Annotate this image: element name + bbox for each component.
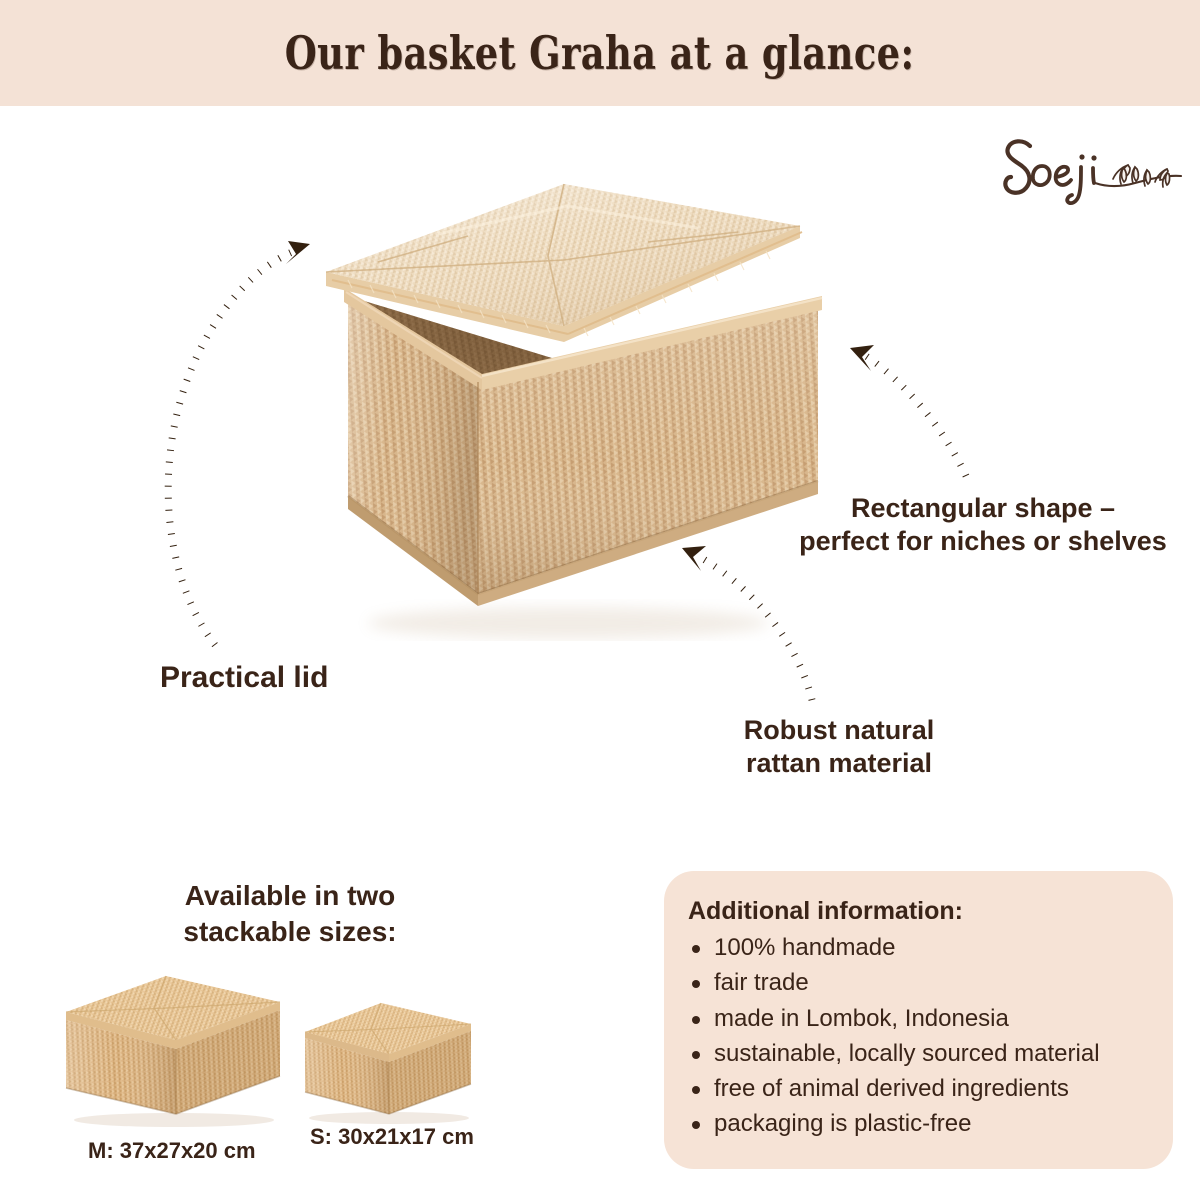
list-item: 100% handmade <box>688 930 1147 965</box>
additional-information-card: Additional information: 100% handmade fa… <box>664 871 1173 1169</box>
list-item: free of animal derived ingredients <box>688 1071 1147 1106</box>
callout-line: perfect for niches or shelves <box>783 525 1183 558</box>
product-photo-size-s <box>297 996 477 1124</box>
callout-label-rectangular-shape: Rectangular shape – perfect for niches o… <box>783 492 1183 558</box>
logo-script-text <box>1005 141 1181 203</box>
list-item: made in Lombok, Indonesia <box>688 1001 1147 1036</box>
sizes-heading-line: Available in two <box>140 878 440 914</box>
additional-information-list: 100% handmade fair trade made in Lombok,… <box>688 930 1147 1142</box>
callout-line: rattan material <box>728 747 950 780</box>
sizes-heading-line: stackable sizes: <box>140 914 440 950</box>
page-title: Our basket Graha at a glance: <box>285 26 915 80</box>
dotted-arrow-icon-rectangular-shape <box>850 345 966 476</box>
header-band: Our basket Graha at a glance: <box>0 0 1200 106</box>
dotted-arrow-icon-practical-lid <box>168 241 310 645</box>
list-item: fair trade <box>688 965 1147 1000</box>
basket-shadow <box>368 607 768 639</box>
callout-label-rattan-material: Robust natural rattan material <box>728 714 950 780</box>
sizes-heading: Available in two stackable sizes: <box>140 878 440 950</box>
callout-line: Robust natural <box>728 714 950 747</box>
callout-line: Practical lid <box>160 660 328 697</box>
additional-information-title: Additional information: <box>688 897 1147 926</box>
product-photo-size-m <box>58 968 288 1128</box>
callout-label-practical-lid: Practical lid <box>160 660 328 697</box>
callout-line: Rectangular shape – <box>783 492 1183 525</box>
brand-logo <box>995 130 1190 208</box>
size-label-s: S: 30x21x17 cm <box>310 1124 474 1150</box>
list-item: sustainable, locally sourced material <box>688 1036 1147 1071</box>
list-item: packaging is plastic-free <box>688 1106 1147 1141</box>
size-label-m: M: 37x27x20 cm <box>88 1138 256 1164</box>
leaf-branch-icon <box>1113 165 1170 187</box>
product-photo-main <box>318 176 830 641</box>
